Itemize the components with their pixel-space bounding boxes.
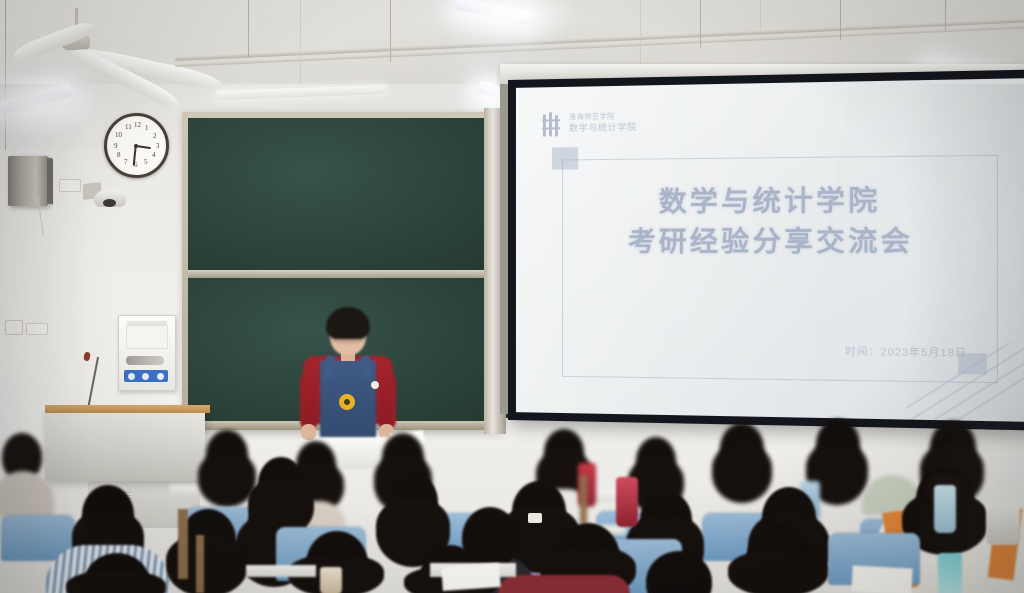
- hanger-wire: [390, 0, 391, 62]
- hanger-wire: [248, 0, 249, 58]
- clock-numeral: 11: [125, 124, 132, 131]
- paper-cup: [320, 567, 342, 593]
- audience: O R: [0, 415, 1024, 593]
- clock-hour-hand: [136, 145, 151, 149]
- sunflower-patch-icon: [339, 394, 355, 410]
- clock-numeral: 8: [117, 152, 121, 159]
- slide-logo: 淮海师范学院 数学与统计学院: [542, 111, 637, 137]
- slide-logo-school: 数学与统计学院: [569, 122, 637, 134]
- audience-hair: [728, 551, 828, 593]
- wall-clock: 12 1 2 3 4 5 6 7 8 9 10 11: [104, 113, 169, 178]
- panel-slider[interactable]: [126, 356, 164, 365]
- desk: [246, 565, 316, 577]
- clock-numeral: 12: [134, 122, 141, 129]
- panel-buttons[interactable]: [124, 370, 168, 382]
- hanger-wire: [945, 0, 946, 30]
- clock-numeral: 4: [152, 152, 156, 159]
- panel-display: [126, 325, 168, 349]
- notebook: [441, 563, 501, 591]
- classroom-photo-scene: 12 1 2 3 4 5 6 7 8 9 10 11: [0, 0, 1024, 593]
- university-crest-icon: [542, 112, 562, 136]
- desk-leg: [178, 509, 188, 579]
- water-bottle-red: [616, 477, 638, 527]
- clock-numeral: 5: [144, 159, 148, 166]
- screen-left-edge: [500, 84, 508, 414]
- hair-clip: [528, 513, 542, 523]
- hanger-wire: [840, 0, 841, 40]
- ceiling-seam: [300, 0, 301, 96]
- wall-shadow: [904, 84, 1024, 593]
- audience-hair: [712, 445, 772, 503]
- wall-shadow: [0, 84, 90, 593]
- clock-center: [134, 144, 138, 148]
- clock-numeral: 2: [153, 133, 157, 140]
- blackboard-panel-top: [188, 118, 494, 270]
- hanger-wire: [700, 0, 701, 48]
- student-badge: [371, 381, 379, 389]
- student-maroon-shirt: [498, 575, 630, 593]
- student-hair: [326, 307, 370, 339]
- clock-numeral: 3: [156, 143, 160, 150]
- ceiling-seam: [760, 0, 761, 30]
- camera-lens-icon: [103, 199, 116, 207]
- clock-numeral: 1: [145, 125, 149, 132]
- slide-accent-square: [552, 147, 578, 169]
- clock-numeral: 10: [115, 132, 122, 139]
- desk-leg: [196, 535, 204, 593]
- blackboard-divider: [188, 270, 494, 278]
- ceiling-seam: [640, 0, 641, 64]
- clock-numeral: 7: [124, 159, 128, 166]
- clock-numeral: 9: [114, 143, 118, 150]
